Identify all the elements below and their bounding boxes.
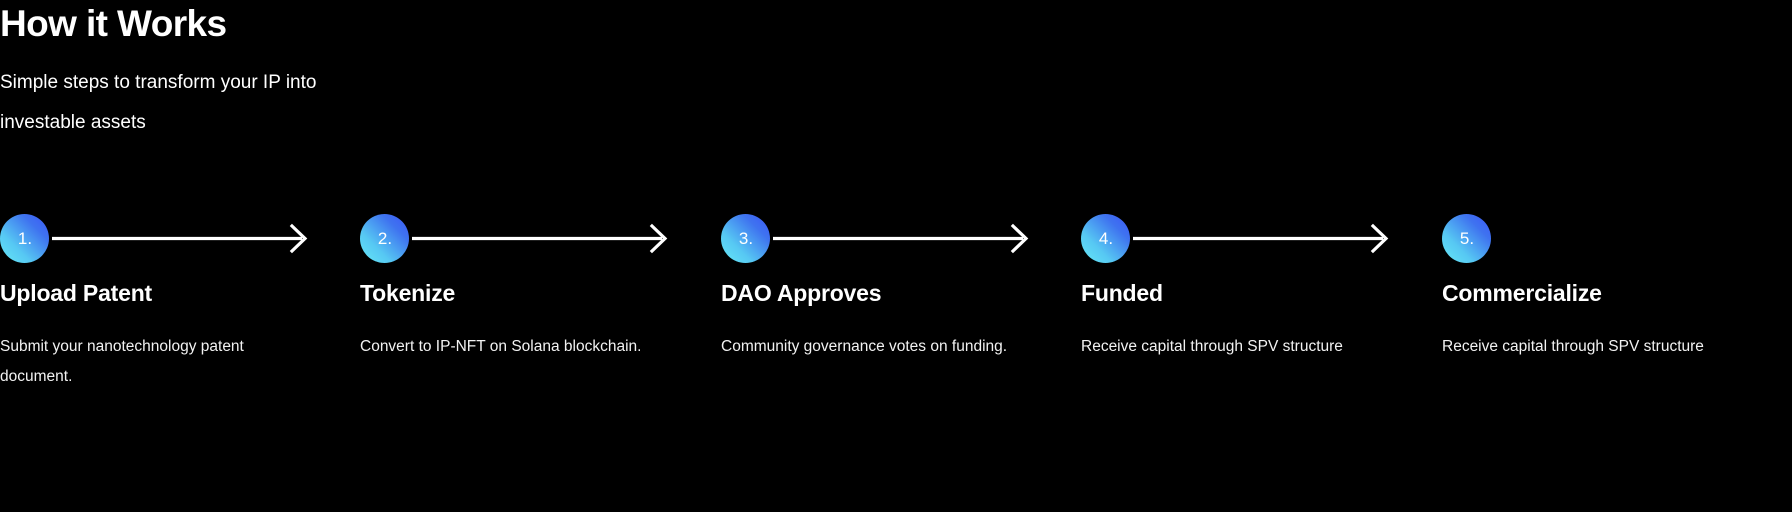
step-number-badge: 2.	[360, 214, 409, 263]
page-title: How it Works	[0, 0, 900, 48]
step-number-label: 5.	[1459, 230, 1474, 247]
step-title: Tokenize	[360, 278, 455, 308]
step-number-badge: 1.	[0, 214, 49, 263]
step-number-label: 3.	[738, 230, 753, 247]
process-step-5: 5. Commercialize Receive capital through…	[1442, 210, 1772, 450]
process-step-3: 3. DAO Approves Community governance vot…	[721, 210, 1051, 450]
process-step-1: 1. Upload Patent Submit your nanotechnol…	[0, 210, 330, 450]
step-number-label: 1.	[17, 230, 32, 247]
step-number-badge: 4.	[1081, 214, 1130, 263]
step-number-badge: 5.	[1442, 214, 1491, 263]
step-description: Receive capital through SPV structure	[1442, 332, 1742, 362]
step-number-badge: 3.	[721, 214, 770, 263]
process-steps: 1. Upload Patent Submit your nanotechnol…	[0, 210, 1792, 450]
step-marker-row: 1.	[0, 210, 330, 266]
arrow-right-icon	[773, 214, 1035, 263]
step-description: Community governance votes on funding.	[721, 332, 1021, 362]
step-title: DAO Approves	[721, 278, 881, 308]
step-description: Receive capital through SPV structure	[1081, 332, 1381, 362]
step-description: Convert to IP-NFT on Solana blockchain.	[360, 332, 660, 362]
step-title: Funded	[1081, 278, 1163, 308]
process-step-4: 4. Funded Receive capital through SPV st…	[1081, 210, 1411, 450]
how-it-works-section: How it Works Simple steps to transform y…	[0, 0, 1792, 512]
arrow-right-icon	[412, 214, 674, 263]
step-marker-row: 4.	[1081, 210, 1411, 266]
step-title: Upload Patent	[0, 278, 152, 308]
step-number-label: 2.	[377, 230, 392, 247]
process-step-2: 2. Tokenize Convert to IP-NFT on Solana …	[360, 210, 690, 450]
page-subtitle: Simple steps to transform your IP into i…	[0, 63, 400, 143]
step-title: Commercialize	[1442, 278, 1602, 308]
step-marker-row: 2.	[360, 210, 690, 266]
step-number-label: 4.	[1098, 230, 1113, 247]
arrow-right-icon	[52, 214, 314, 263]
step-marker-row: 3.	[721, 210, 1051, 266]
step-description: Submit your nanotechnology patent docume…	[0, 332, 300, 392]
step-marker-row: 5.	[1442, 210, 1772, 266]
section-header: How it Works Simple steps to transform y…	[0, 0, 900, 143]
arrow-right-icon	[1133, 214, 1395, 263]
